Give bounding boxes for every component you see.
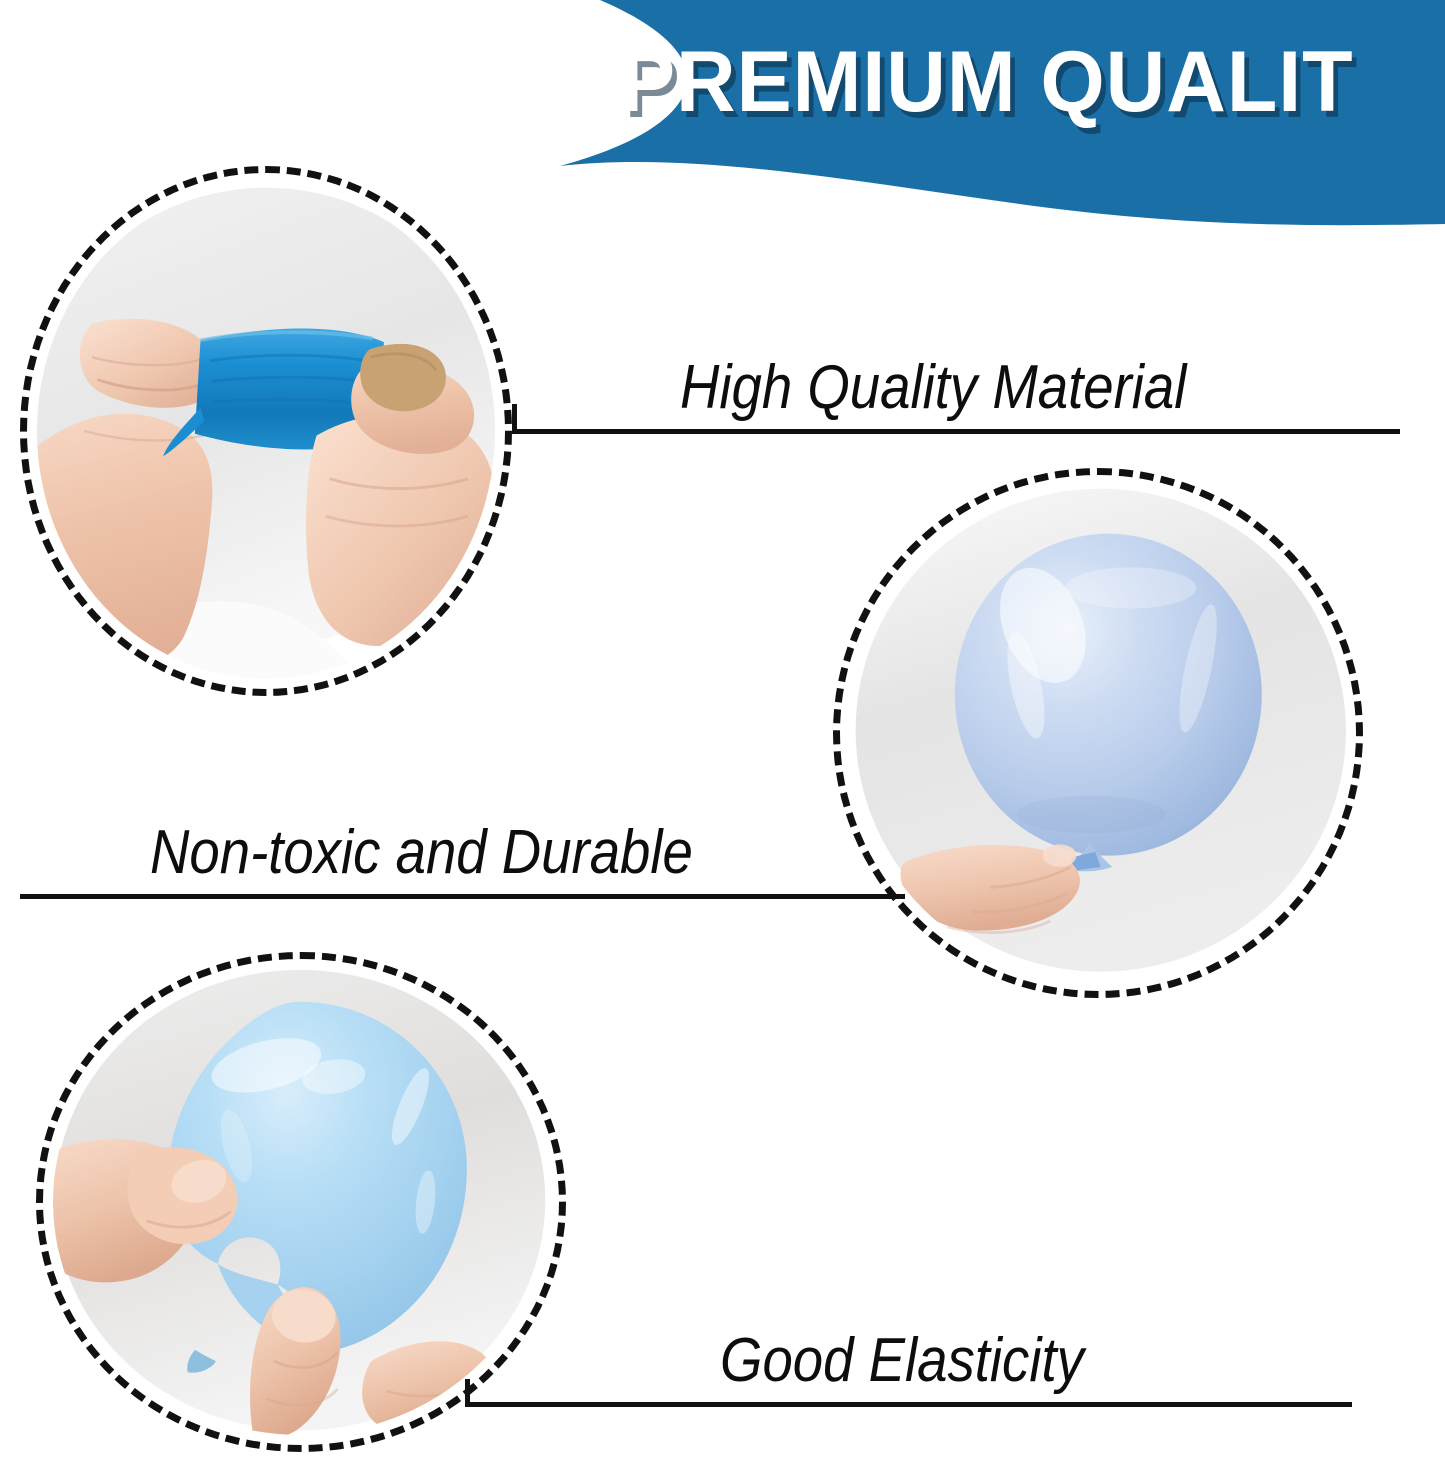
callout-high-quality-material: High Quality Material <box>512 330 1400 434</box>
photo-frame <box>850 485 1346 981</box>
page-title: PREMIUM QUALIT <box>620 27 1445 137</box>
callout-good-elasticity: Good Elasticity <box>465 1303 1352 1407</box>
feature-photo-high-quality-material <box>20 166 512 696</box>
feature-label-non-toxic-and-durable: Non-toxic and Durable <box>150 817 693 889</box>
inflated-balloon-photo <box>850 485 1346 981</box>
callout-rule <box>512 429 1400 434</box>
feature-label-good-elasticity: Good Elasticity <box>720 1325 1084 1397</box>
callout-non-toxic-and-durable: Non-toxic and Durable <box>20 795 905 899</box>
callout-rule <box>465 1402 1352 1407</box>
photo-frame <box>37 183 495 679</box>
feature-photo-non-toxic-and-durable <box>833 468 1363 998</box>
feature-label-high-quality-material: High Quality Material <box>680 352 1186 424</box>
callout-rule <box>20 894 905 899</box>
stretching-balloon-photo <box>37 183 495 679</box>
product-feature-infographic: PREMIUM QUALIT <box>0 0 1445 1474</box>
